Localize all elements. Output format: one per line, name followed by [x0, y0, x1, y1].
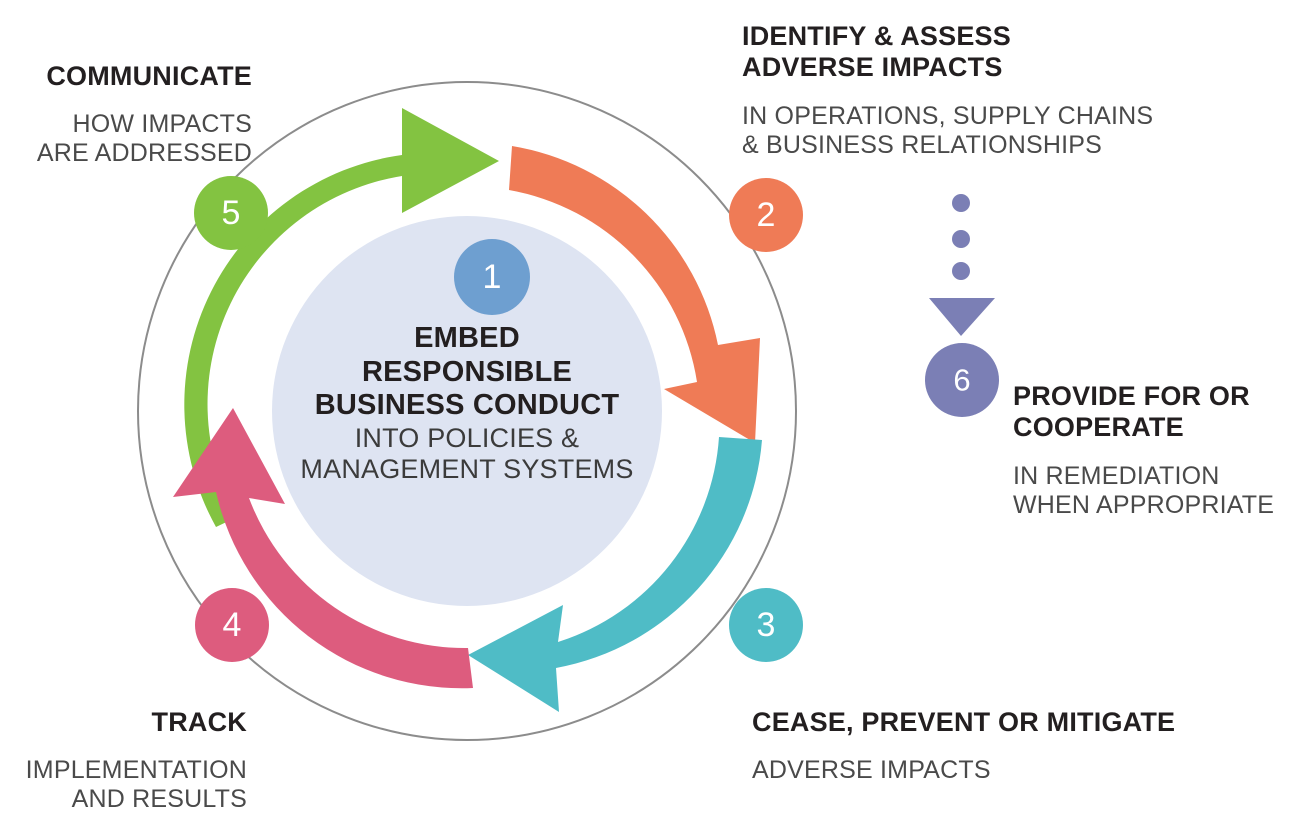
label-track: TRACK IMPLEMENTATION AND RESULTS [0, 688, 247, 833]
label-track-title: TRACK [0, 707, 247, 738]
step-badge-4-label: 4 [223, 606, 242, 644]
label-cease-prevent-mitigate: CEASE, PREVENT OR MITIGATE ADVERSE IMPAC… [752, 688, 1222, 804]
label-provide-cooperate-title: PROVIDE FOR OR COOPERATE [1013, 381, 1294, 444]
label-communicate-subtitle: HOW IMPACTS ARE ADDRESSED [4, 110, 252, 168]
remediation-connector [929, 194, 995, 336]
center-line-into-policies: INTO POLICIES & [282, 423, 652, 454]
label-identify-assess: IDENTIFY & ASSESS ADVERSE IMPACTS IN OPE… [742, 2, 1212, 178]
step-badge-3[interactable]: 3 [729, 588, 803, 662]
label-cease-prevent-mitigate-subtitle: ADVERSE IMPACTS [752, 756, 1222, 785]
label-communicate-title: COMMUNICATE [4, 61, 252, 92]
center-line-responsible: RESPONSIBLE [282, 356, 652, 390]
step-badge-6[interactable]: 6 [925, 343, 999, 417]
center-line-embed: EMBED [282, 322, 652, 356]
step-badge-2[interactable]: 2 [729, 178, 803, 252]
label-provide-cooperate-subtitle: IN REMEDIATION WHEN APPROPRIATE [1013, 462, 1294, 520]
step-badge-2-label: 2 [757, 196, 776, 234]
step-badge-4[interactable]: 4 [195, 588, 269, 662]
connector-dot-3 [952, 262, 970, 280]
center-line-management-systems: MANAGEMENT SYSTEMS [282, 454, 652, 485]
center-line-business-conduct: BUSINESS CONDUCT [282, 389, 652, 423]
label-track-subtitle: IMPLEMENTATION AND RESULTS [0, 756, 247, 814]
label-identify-assess-subtitle: IN OPERATIONS, SUPPLY CHAINS & BUSINESS … [742, 102, 1212, 160]
diagram-canvas: 1 2 3 4 5 6 COMM [0, 0, 1294, 808]
step-badge-3-label: 3 [757, 606, 776, 644]
step-badge-5-label: 5 [222, 194, 241, 232]
label-communicate: COMMUNICATE HOW IMPACTS ARE ADDRESSED [4, 42, 252, 187]
step-badge-1[interactable]: 1 [454, 239, 530, 315]
center-label: EMBED RESPONSIBLE BUSINESS CONDUCT INTO … [282, 322, 652, 486]
step-badge-6-label: 6 [953, 363, 970, 398]
step-badge-1-label: 1 [483, 258, 502, 296]
label-identify-assess-title: IDENTIFY & ASSESS ADVERSE IMPACTS [742, 21, 1212, 84]
label-provide-cooperate: PROVIDE FOR OR COOPERATE IN REMEDIATION … [1013, 362, 1294, 538]
step-badge-5[interactable]: 5 [194, 176, 268, 250]
connector-dot-1 [952, 194, 970, 212]
label-cease-prevent-mitigate-title: CEASE, PREVENT OR MITIGATE [752, 707, 1222, 738]
connector-down-arrow-icon [929, 298, 995, 336]
connector-dot-2 [952, 230, 970, 248]
